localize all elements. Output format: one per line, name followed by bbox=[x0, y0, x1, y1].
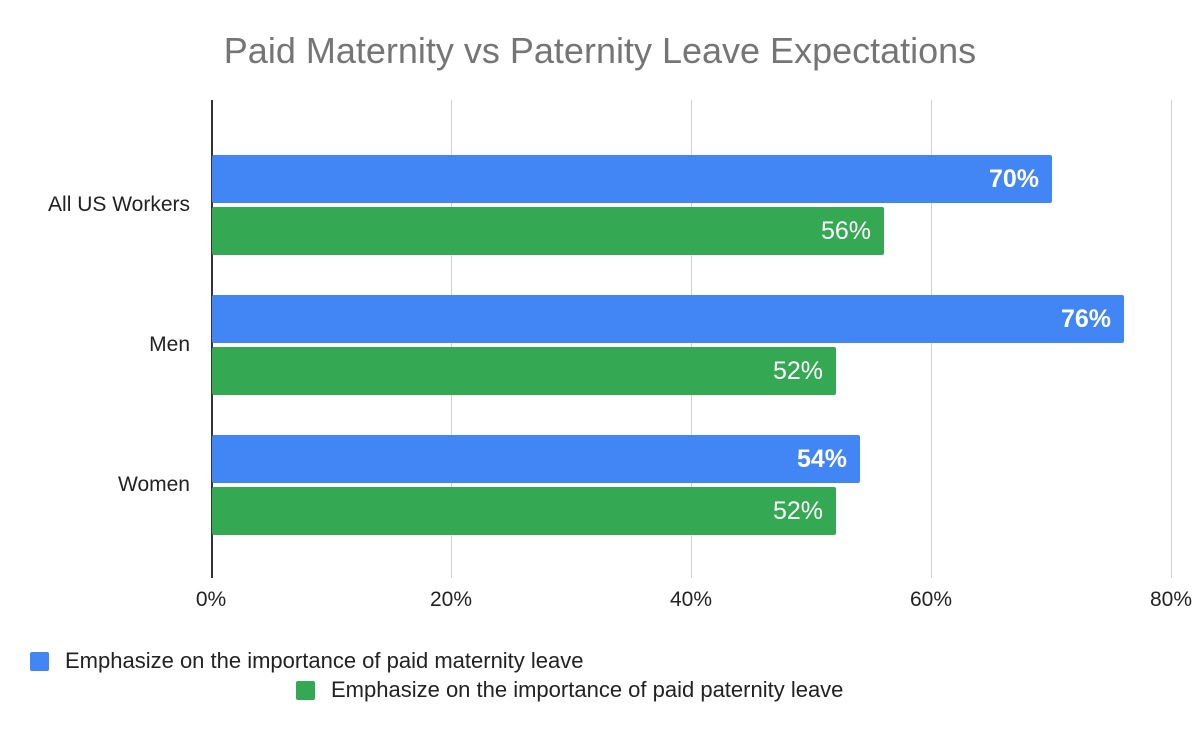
legend-item[interactable]: Emphasize on the importance of paid mate… bbox=[30, 648, 584, 674]
bar-chart: Paid Maternity vs Paternity Leave Expect… bbox=[0, 0, 1200, 742]
legend-swatch-icon bbox=[296, 681, 315, 700]
bar-value-label: 52% bbox=[773, 359, 823, 384]
x-axis-tick-label: 20% bbox=[430, 588, 472, 612]
gridline-80% bbox=[1171, 100, 1172, 578]
legend-label: Emphasize on the importance of paid pate… bbox=[331, 677, 843, 703]
legend-item[interactable]: Emphasize on the importance of paid pate… bbox=[296, 677, 843, 703]
y-axis-category-label: Men bbox=[149, 333, 190, 357]
chart-title: Paid Maternity vs Paternity Leave Expect… bbox=[0, 30, 1200, 72]
bar[interactable]: 52% bbox=[212, 487, 836, 535]
bar[interactable]: 70% bbox=[212, 155, 1052, 203]
bar-value-label: 52% bbox=[773, 499, 823, 524]
legend-label: Emphasize on the importance of paid mate… bbox=[65, 648, 584, 674]
bar-value-label: 56% bbox=[821, 219, 871, 244]
legend-swatch-icon bbox=[30, 652, 49, 671]
bar[interactable]: 54% bbox=[212, 435, 860, 483]
x-axis-tick-label: 80% bbox=[1150, 588, 1192, 612]
bar-value-label: 54% bbox=[797, 447, 847, 472]
x-axis-tick-label: 60% bbox=[910, 588, 952, 612]
bar[interactable]: 76% bbox=[212, 295, 1124, 343]
plot-area: 70%56%76%52%54%52% bbox=[211, 100, 1173, 578]
y-axis-category-label: All US Workers bbox=[48, 193, 190, 217]
bar[interactable]: 52% bbox=[212, 347, 836, 395]
x-axis-tick-label: 40% bbox=[670, 588, 712, 612]
y-axis-category-label: Women bbox=[118, 473, 190, 497]
bar-value-label: 70% bbox=[989, 167, 1039, 192]
bar-value-label: 76% bbox=[1061, 307, 1111, 332]
bar[interactable]: 56% bbox=[212, 207, 884, 255]
x-axis-tick-label: 0% bbox=[196, 588, 226, 612]
